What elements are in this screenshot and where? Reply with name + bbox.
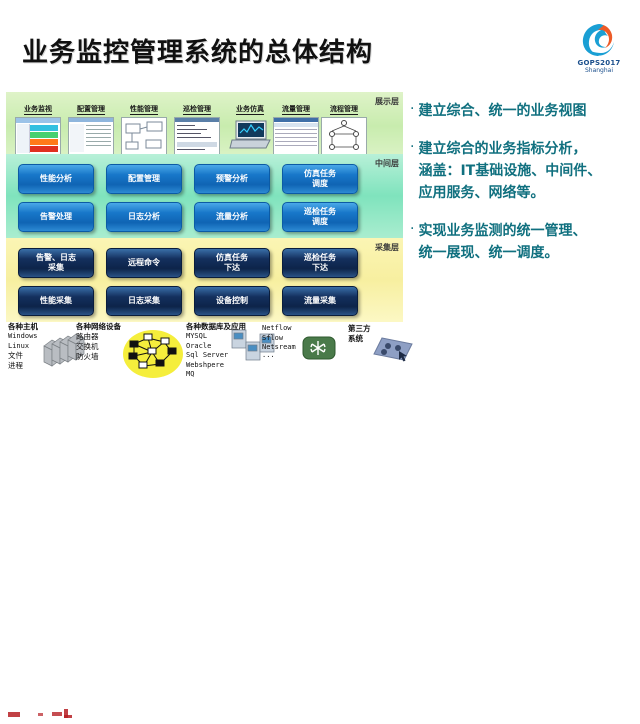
- architecture-diagram: 展示层 业务监视 配置管理: [6, 92, 403, 322]
- source-hosts: 各种主机 Windows Linux 文件 进程: [8, 322, 38, 371]
- bullet-line: 涵盖：IT基础设施、中间件、: [418, 160, 601, 182]
- collection-button-5[interactable]: 日志采集: [106, 286, 182, 316]
- middle-button-5[interactable]: 日志分析: [106, 202, 182, 232]
- performance-chart-thumbnail: [121, 117, 167, 155]
- bullet-line: 统一展现、统一调度。: [418, 242, 586, 264]
- presentation-item-label: 流程管理: [330, 105, 358, 115]
- source-line: ···: [262, 353, 296, 363]
- source-line: Linux: [8, 342, 38, 352]
- middle-button-1[interactable]: 配置管理: [106, 164, 182, 194]
- gops-logo: GOPS2017 Shanghai: [568, 22, 630, 84]
- network-cloud-icon: [122, 328, 184, 382]
- presentation-item-label: 业务仿真: [236, 105, 264, 115]
- dashboard-heatmap-thumbnail: [15, 117, 61, 155]
- presentation-item-label: 配置管理: [77, 105, 105, 115]
- laptop-simulation-thumbnail: [228, 117, 272, 153]
- source-line: 文件: [8, 351, 38, 361]
- collection-button-3[interactable]: 巡检任务下达: [282, 248, 358, 278]
- source-line: Netflow: [262, 324, 296, 334]
- presentation-item-0[interactable]: 业务监视: [14, 96, 62, 155]
- switch-device-icon: [302, 334, 336, 364]
- presentation-item-label: 业务监视: [24, 105, 52, 115]
- bullet-item-0: · 建立综合、统一的业务视图: [410, 100, 636, 122]
- third-party-platform-icon: [372, 334, 414, 370]
- middle-button-2[interactable]: 预警分析: [194, 164, 270, 194]
- bullet-line: 实现业务监测的统一管理、: [418, 220, 586, 242]
- collection-button-2[interactable]: 仿真任务下达: [194, 248, 270, 278]
- presentation-item-1[interactable]: 配置管理: [67, 96, 115, 155]
- source-line: 防火墙: [76, 352, 121, 362]
- source-line: 进程: [8, 361, 38, 371]
- source-line: 路由器: [76, 332, 121, 342]
- layer-label-collection: 采集层: [375, 242, 399, 253]
- source-title: 第三方系统: [348, 324, 374, 344]
- bullet-item-1: · 建立综合的业务指标分析， 涵盖：IT基础设施、中间件、 应用服务、网络等。: [410, 138, 636, 204]
- bullet-line: 建立综合、统一的业务视图: [418, 100, 586, 122]
- presentation-item-6[interactable]: 流程管理: [320, 96, 368, 155]
- source-network-devices: 各种网络设备 路由器 交换机 防火墙: [76, 322, 121, 362]
- data-sources: 各种主机 Windows Linux 文件 进程: [4, 320, 404, 392]
- source-title: 各种网络设备: [76, 322, 121, 332]
- slide-canvas: 业务监控管理系统的总体结构 GOPS2017 Shanghai 展示层 业务监视: [0, 0, 640, 425]
- source-title: 各种主机: [8, 322, 38, 332]
- middle-button-7[interactable]: 巡检任务调度: [282, 202, 358, 232]
- middle-button-4[interactable]: 告警处理: [18, 202, 94, 232]
- source-line: Windows: [8, 332, 38, 342]
- layer-presentation: 展示层 业务监视 配置管理: [6, 92, 403, 154]
- logo-name: GOPS2017: [568, 59, 630, 67]
- inspection-report-thumbnail: [174, 117, 220, 155]
- traffic-table-thumbnail: [273, 117, 319, 155]
- presentation-item-3[interactable]: 巡检管理: [173, 96, 221, 155]
- source-netflow: Netflow Sflow Netsream ···: [262, 324, 296, 362]
- config-table-thumbnail: [68, 117, 114, 155]
- collection-button-0[interactable]: 告警、日志采集: [18, 248, 94, 278]
- collection-button-6[interactable]: 设备控制: [194, 286, 270, 316]
- collection-button-1[interactable]: 远程命令: [106, 248, 182, 278]
- middle-button-3[interactable]: 仿真任务调度: [282, 164, 358, 194]
- collection-button-4[interactable]: 性能采集: [18, 286, 94, 316]
- presentation-item-2[interactable]: 性能管理: [120, 96, 168, 155]
- logo-city: Shanghai: [568, 67, 630, 74]
- source-line: Sflow: [262, 334, 296, 344]
- bullet-dot-icon: ·: [410, 220, 414, 264]
- presentation-item-label: 巡检管理: [183, 105, 211, 115]
- presentation-thumbnails: 业务监视 配置管理: [14, 94, 354, 152]
- watermark-artifact: [6, 708, 96, 722]
- presentation-item-label: 性能管理: [130, 105, 158, 115]
- page-title: 业务监控管理系统的总体结构: [22, 32, 373, 69]
- gops-swirl-icon: [579, 22, 619, 58]
- collection-button-7[interactable]: 流量采集: [282, 286, 358, 316]
- bullet-line: 建立综合的业务指标分析，: [418, 138, 601, 160]
- layer-collection: 采集层 告警、日志采集 远程命令 仿真任务下达 巡检任务下达 性能采集 日志采集…: [6, 238, 403, 322]
- topology-flow-thumbnail: [321, 117, 367, 155]
- source-line: 交换机: [76, 342, 121, 352]
- bullet-dot-icon: ·: [410, 100, 414, 122]
- layer-middle: 中间层 性能分析 配置管理 预警分析 仿真任务调度 告警处理 日志分析 流量分析…: [6, 154, 403, 238]
- source-third-party: 第三方系统: [348, 324, 374, 344]
- presentation-item-5[interactable]: 流量管理: [272, 96, 320, 155]
- bullet-item-2: · 实现业务监测的统一管理、 统一展现、统一调度。: [410, 220, 636, 264]
- layer-label-middle: 中间层: [375, 158, 399, 169]
- layer-label-presentation: 展示层: [375, 96, 399, 107]
- middle-button-6[interactable]: 流量分析: [194, 202, 270, 232]
- presentation-item-label: 流量管理: [282, 105, 310, 115]
- bullet-line: 应用服务、网络等。: [418, 182, 601, 204]
- middle-button-0[interactable]: 性能分析: [18, 164, 94, 194]
- presentation-item-4[interactable]: 业务仿真: [226, 96, 274, 153]
- bullet-list: · 建立综合、统一的业务视图 · 建立综合的业务指标分析， 涵盖：IT基础设施、…: [410, 100, 636, 280]
- bullet-dot-icon: ·: [410, 138, 414, 204]
- source-line: Netsream: [262, 343, 296, 353]
